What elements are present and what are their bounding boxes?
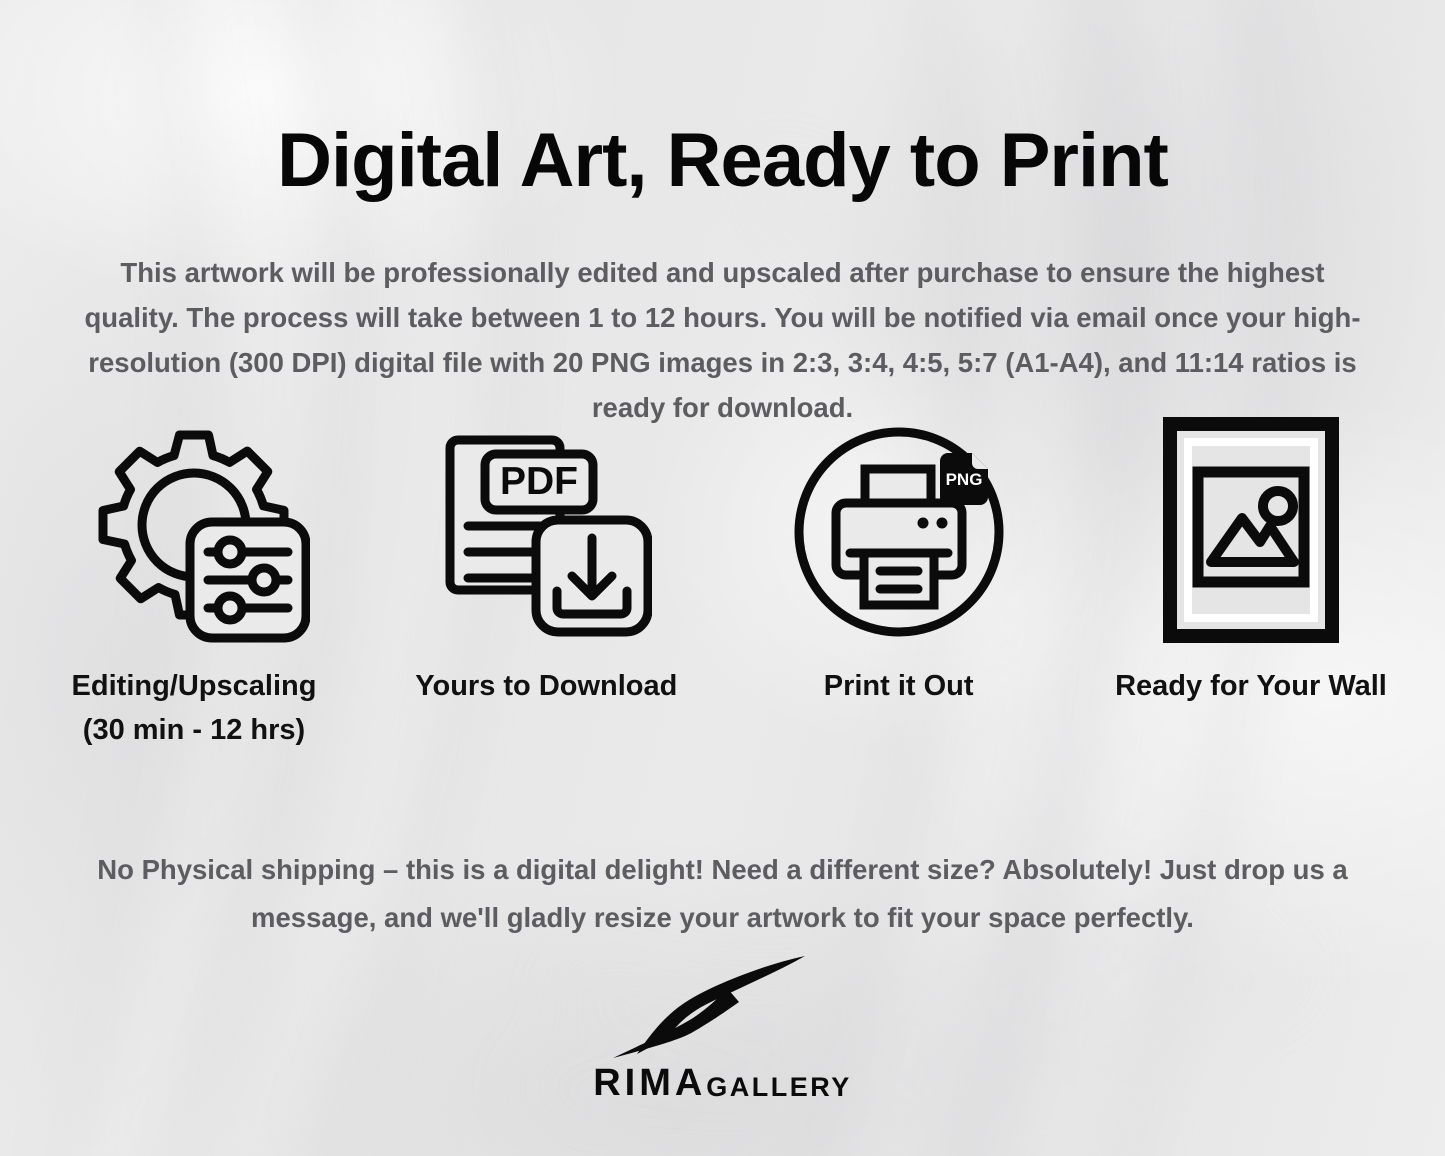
feature-label: Editing/Upscaling (30 min - 12 hrs) [72, 664, 317, 752]
brand-logo: RIMA GALLERY [0, 950, 1445, 1102]
framed-picture-icon [1156, 412, 1346, 652]
gear-settings-icon [78, 412, 310, 652]
feature-yours-to-download: PDF Yours to Download [370, 412, 722, 708]
pdf-download-icon: PDF [440, 412, 652, 652]
intro-paragraph: This artwork will be professionally edit… [72, 250, 1373, 430]
feature-ready-for-your-wall: Ready for Your Wall [1075, 412, 1427, 708]
page-title: Digital Art, Ready to Print [0, 123, 1445, 199]
feature-label: Ready for Your Wall [1115, 664, 1387, 708]
pdf-badge-label: PDF [500, 460, 578, 503]
feature-label: Yours to Download [415, 664, 677, 708]
feature-label-line1: Editing/Upscaling [72, 670, 317, 702]
outro-paragraph: No Physical shipping – this is a digital… [46, 846, 1399, 942]
brand-wordmark: RIMA GALLERY [593, 1064, 852, 1102]
brand-name-secondary: GALLERY [706, 1074, 852, 1101]
feature-label: Print it Out [824, 664, 974, 708]
printer-circle-icon: PNG [790, 412, 1008, 652]
features-row: Editing/Upscaling (30 min - 12 hrs) PDF [0, 412, 1445, 752]
feature-print-it-out: PNG Print it Out [723, 412, 1075, 708]
png-badge-label: PNG [945, 470, 982, 489]
rima-swoosh-logo-mark [607, 950, 839, 1062]
brand-name-primary: RIMA [593, 1064, 706, 1102]
feature-editing-upscaling: Editing/Upscaling (30 min - 12 hrs) [18, 412, 370, 752]
feature-label-line2: (30 min - 12 hrs) [83, 714, 305, 746]
